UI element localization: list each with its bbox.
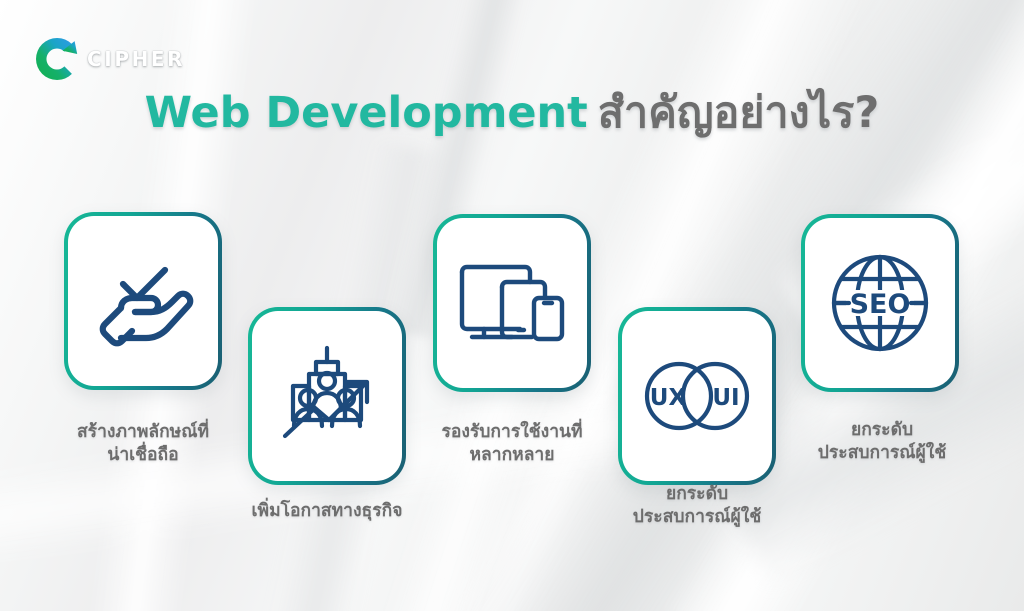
ux-label: UX [650, 385, 687, 411]
feature-card-seo[interactable]: SEO [801, 214, 959, 392]
brand-name: CIPHER [87, 47, 185, 71]
feature-card-responsive[interactable] [433, 214, 591, 392]
brand-logo: CIPHER [36, 38, 185, 80]
page-title: Web Developmentสำคัญอย่างไร? [0, 88, 1024, 139]
responsive-devices-icon [454, 248, 570, 358]
page-title-accent: Web Development [145, 88, 588, 138]
card-inner: UX UI [622, 311, 772, 481]
feature-label-seo: ยกระดับ ประสบการณ์ผู้ใช้ [767, 419, 997, 465]
card-inner [252, 311, 402, 481]
ui-label: UI [712, 385, 739, 411]
feature-card-business-opportunity[interactable] [248, 307, 406, 485]
hand-holding-check-icon [88, 246, 198, 356]
seo-label: SEO [850, 289, 911, 320]
cipher-c-logo-icon [36, 38, 78, 80]
ux-ui-venn-icon: UX UI [637, 353, 757, 439]
card-inner [437, 218, 587, 388]
feature-label-credibility: สร้างภาพลักษณ์ที่ น่าเชื่อถือ [28, 421, 258, 467]
business-growth-chart-icon [271, 340, 383, 452]
card-inner: SEO [805, 218, 955, 388]
feature-card-credibility[interactable] [64, 212, 222, 390]
feature-card-ux-ui[interactable]: UX UI [618, 307, 776, 485]
feature-label-responsive: รองรับการใช้งานที่ หลากหลาย [397, 421, 627, 467]
seo-globe-icon: SEO [823, 246, 937, 360]
page-title-plain: สำคัญอย่างไร? [598, 88, 880, 138]
feature-label-business-opportunity: เพิ่มโอกาสทางธุรกิจ [212, 500, 442, 523]
infographic-poster: CIPHER Web Developmentสำคัญอย่างไร? สร้า… [0, 0, 1024, 611]
feature-label-ux-ui: ยกระดับ ประสบการณ์ผู้ใช้ [582, 483, 812, 529]
card-inner [68, 216, 218, 386]
